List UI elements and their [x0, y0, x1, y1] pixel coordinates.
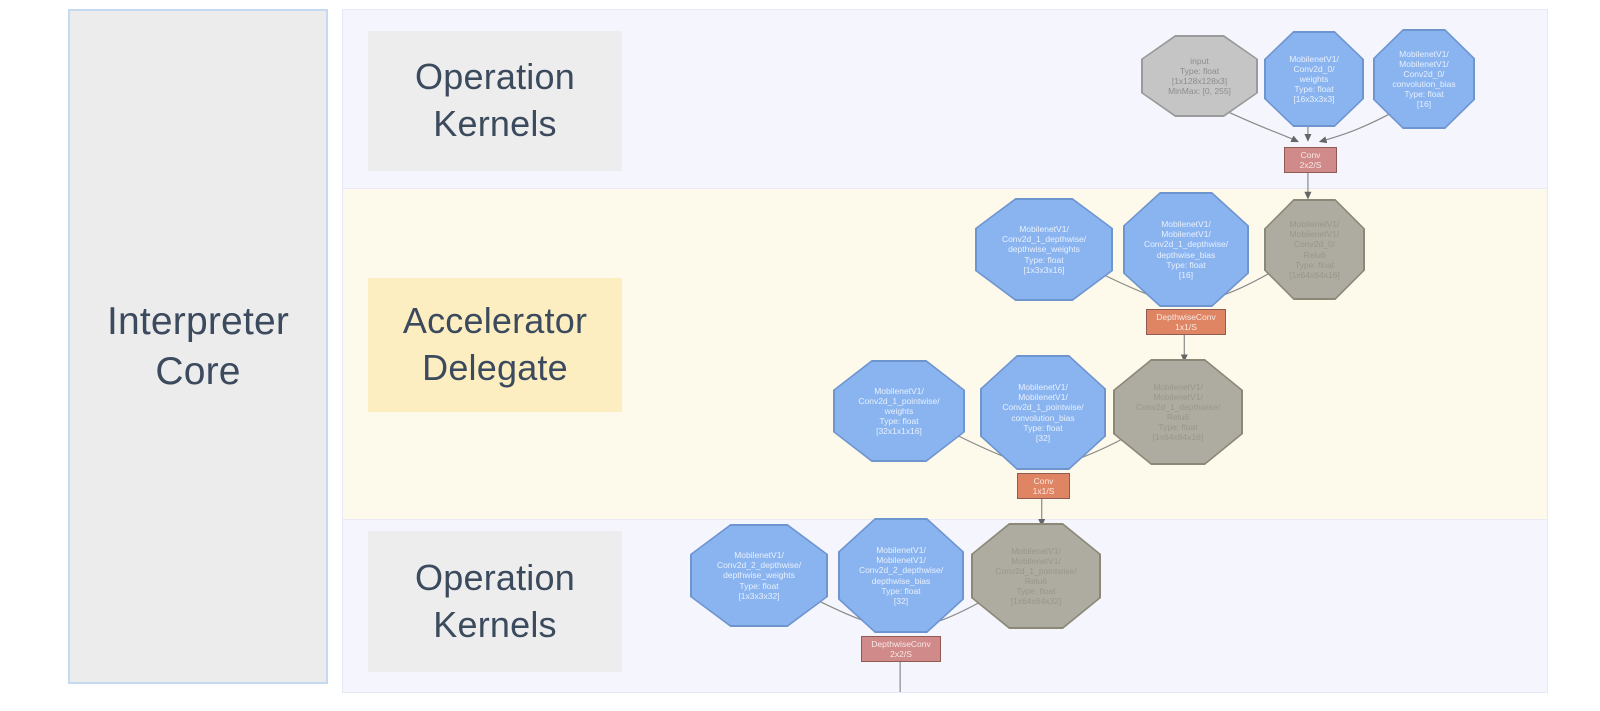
graph-node-conv2d0-relu6[interactable]: MobilenetV1/ MobilenetV1/ Conv2d_0/ Relu…	[1264, 199, 1365, 300]
node-label: MobilenetV1/ MobilenetV1/ Conv2d_0/ conv…	[1373, 29, 1475, 129]
node-label: MobilenetV1/ Conv2d_1_depthwise/ depthwi…	[975, 198, 1113, 301]
graph-op-conv-1x1[interactable]: Conv 1x1/S	[1017, 473, 1070, 499]
graph-node-conv2d0-bias[interactable]: MobilenetV1/ MobilenetV1/ Conv2d_0/ conv…	[1373, 29, 1475, 129]
interpreter-core-panel: Interpreter Core	[68, 9, 328, 684]
op-label: DepthwiseConv 1x1/S	[1156, 312, 1216, 332]
node-label: MobilenetV1/ Conv2d_2_depthwise/ depthwi…	[690, 524, 828, 627]
node-label: MobilenetV1/ MobilenetV1/ Conv2d_2_depth…	[838, 518, 964, 633]
node-label: input Type: float [1x128x128x3] MinMax: …	[1141, 35, 1258, 117]
graph-op-conv-2x2[interactable]: Conv 2x2/S	[1284, 147, 1337, 173]
diagram-canvas: Interpreter Core Operation Kernels Accel…	[0, 0, 1600, 711]
interpreter-core-label: Interpreter Core	[107, 297, 289, 396]
op-label: Conv 1x1/S	[1033, 476, 1055, 496]
band-label-text: Accelerator Delegate	[403, 298, 587, 392]
op-label: Conv 2x2/S	[1300, 150, 1322, 170]
graph-node-conv2d2-depthwise-bias[interactable]: MobilenetV1/ MobilenetV1/ Conv2d_2_depth…	[838, 518, 964, 633]
band-label-text: Operation Kernels	[415, 54, 575, 148]
graph-node-conv2d0-weights[interactable]: MobilenetV1/ Conv2d_0/ weights Type: flo…	[1264, 31, 1364, 127]
node-label: MobilenetV1/ MobilenetV1/ Conv2d_1_point…	[971, 523, 1101, 629]
model-graph-panel: Operation Kernels Accelerator Delegate O…	[342, 9, 1548, 693]
graph-node-conv2d1-pointwise-weights[interactable]: MobilenetV1/ Conv2d_1_pointwise/ weights…	[833, 360, 965, 462]
graph-node-input[interactable]: input Type: float [1x128x128x3] MinMax: …	[1141, 35, 1258, 117]
graph-op-depthwiseconv-2x2[interactable]: DepthwiseConv 2x2/S	[861, 636, 941, 662]
graph-node-conv2d1-pointwise-relu6[interactable]: MobilenetV1/ MobilenetV1/ Conv2d_1_point…	[971, 523, 1101, 629]
node-label: MobilenetV1/ MobilenetV1/ Conv2d_1_depth…	[1123, 192, 1249, 307]
op-label: DepthwiseConv 2x2/S	[871, 639, 931, 659]
band-label-text: Operation Kernels	[415, 555, 575, 649]
graph-op-depthwiseconv-1x1[interactable]: DepthwiseConv 1x1/S	[1146, 309, 1226, 335]
graph-node-conv2d1-depthwise-bias[interactable]: MobilenetV1/ MobilenetV1/ Conv2d_1_depth…	[1123, 192, 1249, 307]
band-label-operation-kernels-bottom: Operation Kernels	[368, 531, 622, 672]
band-label-operation-kernels-top: Operation Kernels	[368, 31, 622, 171]
graph-node-conv2d1-depthwise-relu6[interactable]: MobilenetV1/ MobilenetV1/ Conv2d_1_depth…	[1113, 359, 1243, 465]
graph-node-conv2d2-depthwise-weights[interactable]: MobilenetV1/ Conv2d_2_depthwise/ depthwi…	[690, 524, 828, 627]
node-label: MobilenetV1/ MobilenetV1/ Conv2d_0/ Relu…	[1264, 199, 1365, 300]
graph-node-conv2d1-depthwise-weights[interactable]: MobilenetV1/ Conv2d_1_depthwise/ depthwi…	[975, 198, 1113, 301]
band-label-accelerator-delegate: Accelerator Delegate	[368, 278, 622, 412]
graph-node-conv2d1-pointwise-bias[interactable]: MobilenetV1/ MobilenetV1/ Conv2d_1_point…	[980, 355, 1106, 470]
node-label: MobilenetV1/ Conv2d_1_pointwise/ weights…	[833, 360, 965, 462]
node-label: MobilenetV1/ MobilenetV1/ Conv2d_1_depth…	[1113, 359, 1243, 465]
node-label: MobilenetV1/ Conv2d_0/ weights Type: flo…	[1264, 31, 1364, 127]
node-label: MobilenetV1/ MobilenetV1/ Conv2d_1_point…	[980, 355, 1106, 470]
